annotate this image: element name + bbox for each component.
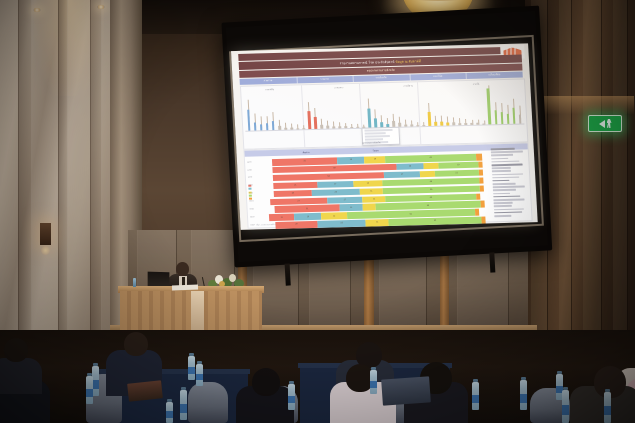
- screen-stand-leg: [489, 252, 495, 272]
- left-wall-panels: [0, 0, 128, 352]
- stacked-bar-row-label: ••••••: [249, 201, 253, 203]
- chart-caption: อัตราป่วยรายจังหวัด: [362, 141, 380, 144]
- audience-chair: [188, 382, 228, 423]
- water-bottle: [133, 278, 136, 287]
- chart-bar[interactable]: [284, 127, 287, 129]
- audience-laptop[interactable]: [381, 376, 431, 405]
- chart-bar[interactable]: [314, 117, 317, 129]
- stacked-bar-segment[interactable]: [420, 171, 435, 178]
- chart-bar[interactable]: [254, 122, 257, 130]
- legend-swatch: [248, 188, 251, 190]
- slide-subheader: สรุปภาพรวมรายจังหวัด: [367, 68, 395, 74]
- water-bottle: [166, 402, 173, 423]
- stacked-bar-segment[interactable]: 17: [327, 196, 363, 204]
- conference-room-photo: รายงานสถานการณ์ โรค ประจำสัปดาห์ ข้อมูล …: [0, 0, 635, 423]
- slide-side-notes: [491, 147, 531, 218]
- arrow-left-icon: [599, 120, 605, 128]
- chart-bar[interactable]: [447, 122, 450, 125]
- chart-bar[interactable]: [428, 112, 432, 126]
- stacked-bar-segment[interactable]: 17: [384, 171, 420, 179]
- stacked-bar-segment[interactable]: [363, 204, 376, 211]
- side-note-line: [493, 186, 525, 188]
- chart-bar[interactable]: [380, 122, 383, 127]
- stacked-bar-segment[interactable]: 21: [434, 169, 478, 177]
- stacked-bar-segment[interactable]: [479, 185, 484, 192]
- stacked-bar-segment[interactable]: 23: [317, 220, 366, 228]
- side-note-line: [491, 157, 508, 159]
- water-bottle: [92, 366, 99, 396]
- chart-bar[interactable]: [320, 125, 323, 129]
- stacked-bar-segment[interactable]: 12: [321, 212, 347, 219]
- chart-bar[interactable]: [392, 121, 395, 127]
- side-note-line: [494, 215, 511, 217]
- side-note-line: [492, 167, 511, 169]
- stacked-bar-row-label: ••••••: [250, 216, 254, 218]
- legend-swatch: [249, 198, 252, 200]
- stacked-bar-row-label: ••••••: [247, 169, 251, 171]
- chart-bar[interactable]: [307, 111, 311, 129]
- side-note-line: [494, 202, 514, 204]
- stacked-bar-segment[interactable]: 23: [311, 188, 360, 196]
- chart-bar-whisker: ภาคเหนือภาคกลางภาคอีสานภาคใต้อัตราป่วยรา…: [240, 78, 528, 149]
- side-note-line: [494, 211, 523, 213]
- presentation-slide: รายงานสถานการณ์ โรค ประจำสัปดาห์ ข้อมูล …: [231, 43, 538, 230]
- stacked-bar-row-label: ••••••: [250, 224, 254, 226]
- chart-bar[interactable]: [362, 127, 365, 128]
- stacked-bar-segment[interactable]: 20: [275, 221, 317, 229]
- side-note-line: [491, 148, 515, 150]
- chart-bar[interactable]: [260, 124, 263, 130]
- chart-bar[interactable]: [272, 121, 275, 130]
- water-bottle: [520, 380, 527, 410]
- stacked-bar-segment[interactable]: 11: [366, 219, 389, 226]
- stacked-header-left: สัดส่วน: [302, 150, 309, 154]
- chart-bar[interactable]: [453, 122, 456, 125]
- stacked-bar-segment[interactable]: [476, 154, 483, 161]
- water-bottle: [472, 382, 479, 410]
- chart-bar[interactable]: [518, 115, 521, 124]
- chart-bar[interactable]: [326, 126, 329, 129]
- stacked-bar-segment[interactable]: [479, 177, 484, 184]
- stacked-bar-segment[interactable]: [424, 163, 439, 170]
- audience-area: [0, 330, 635, 423]
- exit-sign: [588, 115, 622, 132]
- stacked-bar-segment[interactable]: 31: [272, 157, 337, 165]
- stacked-bar-segment[interactable]: [475, 209, 480, 216]
- side-note-line: [492, 173, 523, 175]
- documents-on-table: [172, 285, 198, 291]
- audience-laptop[interactable]: [127, 380, 163, 401]
- chart-bar[interactable]: [434, 122, 437, 126]
- chart-bar[interactable]: [266, 123, 269, 130]
- stacked-bar-segment[interactable]: [478, 161, 483, 168]
- stacked-bar-row-label: ••••••: [247, 161, 251, 163]
- chart-bar[interactable]: [332, 126, 335, 128]
- water-bottle: [86, 376, 93, 404]
- stacked-bar-segment[interactable]: 18: [274, 190, 312, 198]
- stacked-bar-row-label: ••••••: [249, 193, 253, 195]
- side-note-line: [492, 176, 519, 178]
- water-bottle: [180, 390, 187, 420]
- chart-group-label: ภาคใต้: [473, 81, 480, 85]
- chart-bar[interactable]: [417, 125, 420, 126]
- side-note-line: [494, 205, 512, 207]
- chart-bar[interactable]: [374, 119, 377, 128]
- exit-running-man-icon: [607, 119, 612, 128]
- side-note-line: [493, 198, 524, 200]
- stacked-bar-row-label: ••••••: [250, 209, 254, 211]
- chart-bar[interactable]: [506, 113, 509, 123]
- chart-group-label: ภาคอีสาน: [403, 83, 413, 87]
- wall-sconce-lamp: [40, 223, 51, 245]
- chart-bar[interactable]: [290, 128, 293, 130]
- chart-bar[interactable]: [278, 126, 281, 130]
- chart-bar[interactable]: [494, 111, 498, 125]
- side-note-line: [494, 208, 524, 210]
- chart-bar[interactable]: [487, 88, 492, 124]
- water-bottle: [562, 390, 569, 423]
- stacked-bar-segment[interactable]: [480, 201, 485, 208]
- chart-stacked-bars: สัดส่วน ร้อยละ ที่มา: ระบบรายงานเฝ้าระวั…: [243, 142, 532, 228]
- stacked-bar-segment[interactable]: 27: [270, 197, 327, 205]
- stacked-bar-segment[interactable]: 13: [396, 163, 424, 170]
- side-note-line: [491, 154, 513, 156]
- stacked-bar-segment[interactable]: 21: [273, 182, 317, 190]
- side-note-line: [492, 163, 523, 165]
- stacked-bar-segment[interactable]: 13: [337, 157, 365, 164]
- screen-stand-leg: [285, 263, 291, 285]
- chart-bar[interactable]: [302, 128, 305, 129]
- chart-bar[interactable]: [471, 123, 474, 125]
- side-note-line: [493, 183, 516, 185]
- chart-bar[interactable]: [398, 123, 401, 127]
- chart-bar[interactable]: [386, 124, 389, 127]
- stacked-bar-segment[interactable]: 11: [362, 196, 385, 203]
- chart-bar[interactable]: [356, 127, 359, 128]
- side-note-line: [493, 189, 516, 191]
- chart-bar[interactable]: [465, 123, 468, 125]
- side-note-line: [491, 151, 523, 153]
- stacked-bar-segment[interactable]: 19: [438, 162, 478, 170]
- stacked-bar-row-label: ••••••: [248, 177, 252, 179]
- side-note-line: [491, 160, 519, 162]
- chart-bar[interactable]: [500, 112, 503, 124]
- water-bottle: [604, 392, 611, 423]
- water-bottle: [188, 356, 195, 380]
- slide-title: รายงานสถานการณ์ โรค ประจำสัปดาห์: [340, 59, 395, 64]
- chart-bar[interactable]: [410, 125, 413, 127]
- chart-group-label: ภาคเหนือ: [265, 87, 274, 91]
- chart-bar[interactable]: [404, 124, 407, 126]
- stacked-bar-segment[interactable]: [476, 193, 481, 200]
- stacked-header-right: ร้อยละ: [372, 148, 379, 152]
- chart-bar[interactable]: [440, 122, 443, 126]
- water-bottle: [196, 364, 203, 386]
- chart-bar[interactable]: [367, 108, 371, 127]
- ceiling-spotlight: [33, 8, 41, 12]
- chart-bar[interactable]: [459, 123, 462, 125]
- side-note-line: [493, 195, 520, 197]
- stacked-bar-segment[interactable]: 11: [360, 188, 383, 195]
- chart-bar[interactable]: [247, 110, 251, 131]
- stacked-bar-segment[interactable]: 31: [274, 205, 339, 213]
- projection-screen: รายงานสถานการณ์ โรค ประจำสัปดาห์ ข้อมูล …: [221, 6, 552, 273]
- chart-bar[interactable]: [477, 123, 480, 125]
- stacked-bar-segment[interactable]: 10: [364, 156, 385, 163]
- water-bottle: [288, 384, 295, 410]
- stacked-bar-segment[interactable]: 14: [353, 180, 383, 187]
- stacked-bar-segment[interactable]: 12: [269, 214, 295, 221]
- side-note-line: [492, 180, 509, 182]
- slide-title-highlight: ข้อมูล ณ สัปดาห์ที่: [395, 59, 421, 64]
- stacked-bar-segment[interactable]: 11: [340, 204, 363, 211]
- ceiling-spotlight: [97, 5, 105, 9]
- side-note-line: [493, 192, 510, 194]
- stacked-bar-row-label: ••••••: [248, 185, 252, 187]
- water-bottle: [370, 370, 377, 394]
- chart-bar[interactable]: [338, 126, 341, 128]
- chart-bar[interactable]: [296, 128, 299, 129]
- chart-group-label: ภาคกลาง: [334, 85, 343, 89]
- stacked-bar-segment[interactable]: 17: [317, 181, 353, 189]
- stacked-bar-segment[interactable]: 13: [294, 213, 322, 220]
- stacked-bar-segment[interactable]: [479, 169, 484, 176]
- side-note-line: [492, 170, 511, 172]
- presenter-laptop[interactable]: [148, 272, 170, 288]
- stacked-bar-segment[interactable]: [481, 217, 486, 224]
- chart-bar[interactable]: [423, 125, 426, 126]
- speaker-head: [176, 262, 189, 276]
- chart-bar[interactable]: [512, 108, 516, 124]
